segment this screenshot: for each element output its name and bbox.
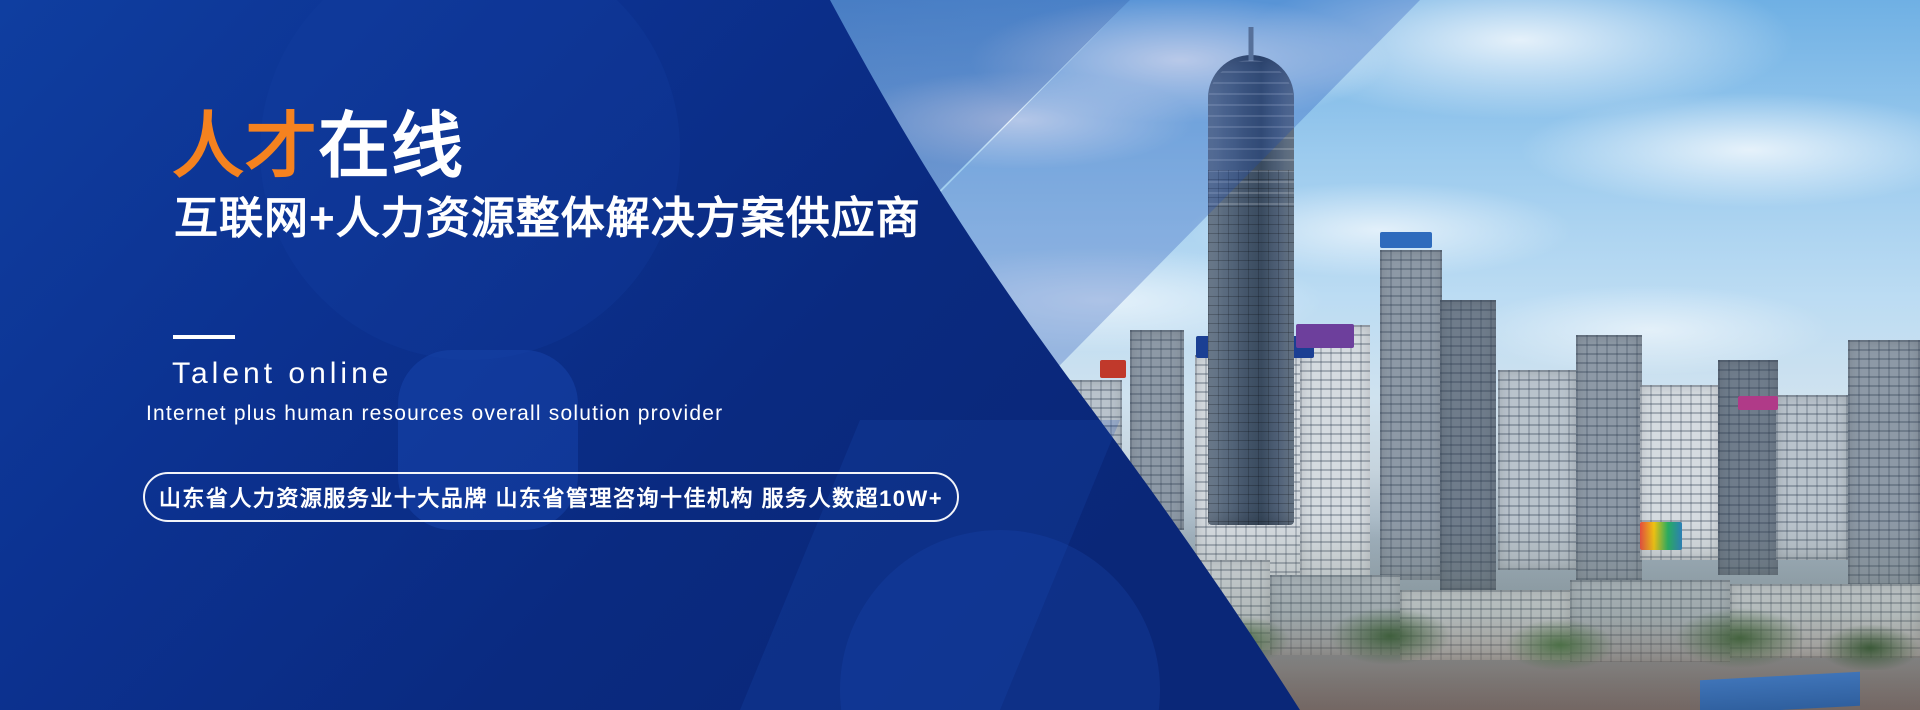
title-highlight: 人才 [172,107,318,187]
hero-banner: 人才在线 互联网+人力资源整体解决方案供应商 Talent online Int… [0,0,1920,710]
english-title: Talent online [172,357,392,391]
hero-content: 人才在线 互联网+人力资源整体解决方案供应商 Talent online Int… [0,0,1000,710]
page-subtitle: 互联网+人力资源整体解决方案供应商 [174,193,921,246]
page-title: 人才在线 [172,111,464,183]
divider [173,335,235,339]
credentials-badge-text: 山东省人力资源服务业十大品牌 山东省管理咨询十佳机构 服务人数超10W+ [159,481,943,513]
credentials-badge: 山东省人力资源服务业十大品牌 山东省管理咨询十佳机构 服务人数超10W+ [143,472,959,522]
title-rest: 在线 [318,107,464,187]
english-subtitle: Internet plus human resources overall so… [146,402,723,426]
